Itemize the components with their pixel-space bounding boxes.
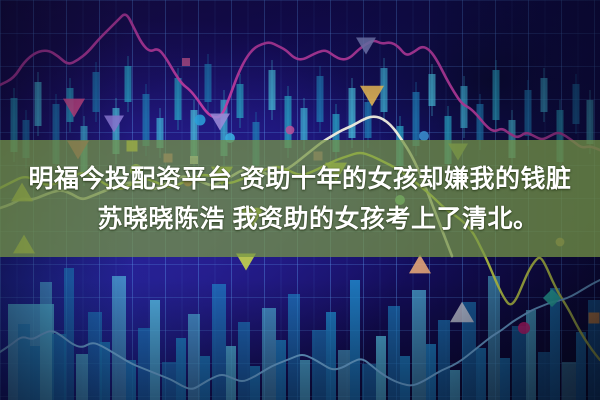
stock-chart-banner: 明福今投配资平台 资助十年的女孩却嫌我的钱脏 苏晓晓陈浩 我资助的女孩考上了清北… [0, 0, 600, 400]
headline-band: 明福今投配资平台 资助十年的女孩却嫌我的钱脏 苏晓晓陈浩 我资助的女孩考上了清北… [0, 140, 600, 257]
headline-line-1: 明福今投配资平台 资助十年的女孩却嫌我的钱脏 [29, 159, 572, 199]
headline-line-2: 苏晓晓陈浩 我资助的女孩考上了清北。 [62, 199, 539, 239]
